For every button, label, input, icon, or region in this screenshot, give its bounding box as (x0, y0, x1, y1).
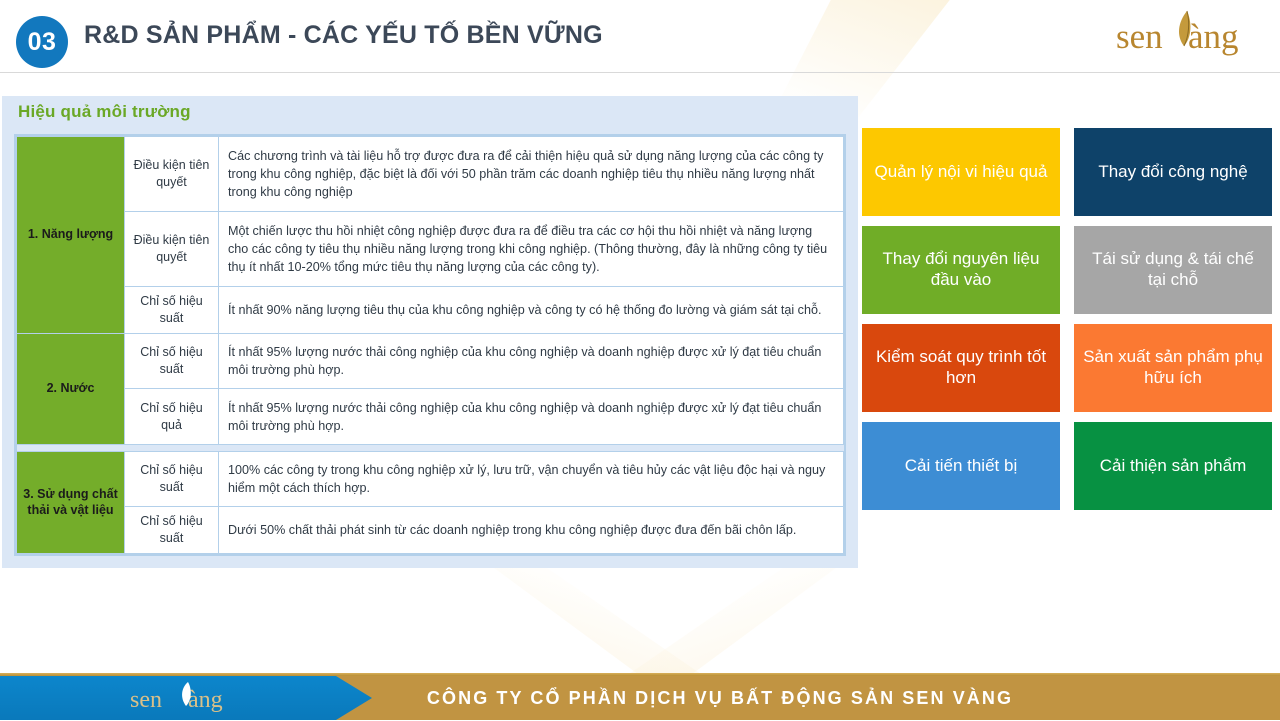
kpi-cell: Chỉ số hiệu suất (125, 333, 219, 389)
category-label: 2. Nước (47, 381, 95, 395)
option-card-good-housekeeping[interactable]: Quản lý nội vi hiệu quả (862, 128, 1060, 216)
option-label: Cải thiện sản phẩm (1100, 456, 1246, 477)
table-row: Điều kiện tiên quyết Một chiến lược thu … (17, 212, 844, 287)
kpi-cell: Chỉ số hiệu quả (125, 389, 219, 445)
description-cell: Dưới 50% chất thải phát sinh từ các doan… (219, 507, 844, 554)
option-label: Quản lý nội vi hiệu quả (875, 162, 1048, 183)
option-label: Tái sử dụng & tái chế tại chỗ (1082, 249, 1264, 290)
slide-footer: CÔNG TY CỔ PHẦN DỊCH VỤ BẤT ĐỘNG SẢN SEN… (0, 676, 1280, 720)
slide-number-label: 03 (28, 28, 57, 57)
option-card-better-process-control[interactable]: Kiểm soát quy trình tốt hơn (862, 324, 1060, 412)
kpi-cell: Chỉ số hiệu suất (125, 451, 219, 507)
category-label: 1. Năng lượng (28, 227, 113, 241)
matrix-table-body: 1. Năng lượng Điều kiện tiên quyết Các c… (17, 137, 844, 554)
kpi-cell: Điều kiện tiên quyết (125, 137, 219, 212)
slide-number-badge: 03 (16, 16, 68, 68)
option-label: Cải tiến thiết bị (905, 456, 1017, 477)
option-card-onsite-reuse-recycle[interactable]: Tái sử dụng & tái chế tại chỗ (1074, 226, 1272, 314)
panel-title: Hiệu quả môi trường (18, 102, 191, 122)
environment-performance-panel: Hiệu quả môi trường 1. Năng lượng Điều k… (2, 96, 858, 568)
lotus-watermark-bottom-right (620, 565, 840, 685)
lotus-watermark-bottom-left (490, 565, 710, 685)
table-row: Chỉ số hiệu quả Ít nhất 95% lượng nước t… (17, 389, 844, 445)
kpi-cell: Điều kiện tiên quyết (125, 212, 219, 287)
table-row: Chỉ số hiệu suất Dưới 50% chất thải phát… (17, 507, 844, 554)
description-cell: Một chiến lược thu hồi nhiệt công nghiệp… (219, 212, 844, 287)
option-label: Sản xuất sản phẩm phụ hữu ích (1082, 347, 1264, 388)
option-label: Thay đổi công nghệ (1098, 162, 1247, 183)
option-card-product-modification[interactable]: Cải thiện sản phẩm (1074, 422, 1272, 510)
kpi-cell: Chỉ số hiệu suất (125, 287, 219, 334)
option-card-technology-change[interactable]: Thay đổi công nghệ (1074, 128, 1272, 216)
category-cell-water: 2. Nước (17, 333, 125, 444)
description-cell: Ít nhất 95% lượng nước thải công nghiệp … (219, 333, 844, 389)
option-card-useful-byproduct[interactable]: Sản xuất sản phẩm phụ hữu ích (1074, 324, 1272, 412)
svg-text:àng: àng (1188, 17, 1239, 56)
table-group-gap-cell (17, 444, 844, 451)
sen-vang-logo-icon: sen àng (1112, 8, 1268, 60)
description-cell: Các chương trình và tài liệu hỗ trợ được… (219, 137, 844, 212)
table-row: Chỉ số hiệu suất Ít nhất 90% năng lượng … (17, 287, 844, 334)
svg-text:sen: sen (130, 687, 162, 713)
option-card-equipment-modification[interactable]: Cải tiến thiết bị (862, 422, 1060, 510)
sen-vang-logo-footer-icon: sen àng (128, 680, 260, 716)
category-label: 3. Sử dụng chất thải và vật liệu (23, 487, 117, 518)
page-title: R&D SẢN PHẨM - CÁC YẾU TỐ BỀN VỮNG (84, 21, 603, 50)
category-cell-waste: 3. Sử dụng chất thải và vật liệu (17, 451, 125, 553)
category-cell-energy: 1. Năng lượng (17, 137, 125, 334)
cleaner-production-options-grid: Quản lý nội vi hiệu quả Thay đổi công ng… (862, 128, 1272, 508)
matrix-table-container: 1. Năng lượng Điều kiện tiên quyết Các c… (14, 134, 846, 556)
sen-vang-logo-footer: sen àng (128, 680, 260, 716)
kpi-cell: Chỉ số hiệu suất (125, 507, 219, 554)
table-group-gap (17, 444, 844, 451)
table-row: 2. Nước Chỉ số hiệu suất Ít nhất 95% lượ… (17, 333, 844, 389)
svg-text:sen: sen (1116, 17, 1163, 56)
option-label: Thay đổi nguyên liệu đầu vào (870, 249, 1052, 290)
table-row: 1. Năng lượng Điều kiện tiên quyết Các c… (17, 137, 844, 212)
matrix-table: 1. Năng lượng Điều kiện tiên quyết Các c… (16, 136, 844, 554)
table-row: 3. Sử dụng chất thải và vật liệu Chỉ số … (17, 451, 844, 507)
description-cell: 100% các công ty trong khu công nghiệp x… (219, 451, 844, 507)
description-cell: Ít nhất 95% lượng nước thải công nghiệp … (219, 389, 844, 445)
description-cell: Ít nhất 90% năng lượng tiêu thụ của khu … (219, 287, 844, 334)
svg-text:àng: àng (188, 687, 223, 713)
sen-vang-logo: sen àng (1112, 8, 1268, 60)
option-card-input-material-change[interactable]: Thay đổi nguyên liệu đầu vào (862, 226, 1060, 314)
option-label: Kiểm soát quy trình tốt hơn (870, 347, 1052, 388)
slide-header: 03 R&D SẢN PHẨM - CÁC YẾU TỐ BỀN VỮNG se… (0, 0, 1280, 73)
